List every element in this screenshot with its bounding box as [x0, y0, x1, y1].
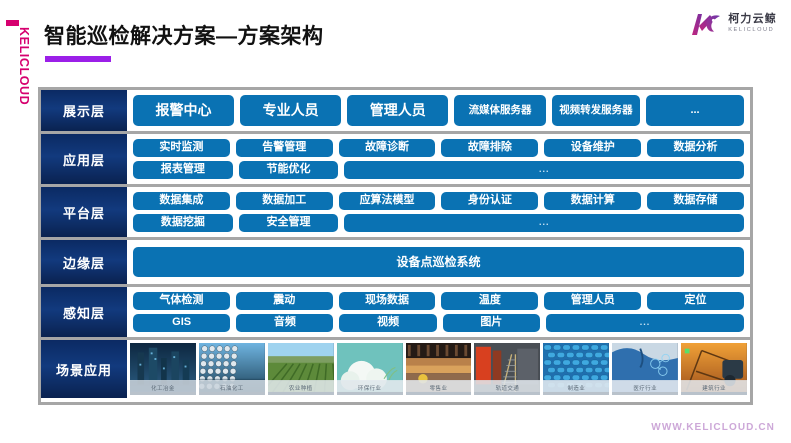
pill-row: 设备点巡检系统	[133, 247, 744, 277]
scene-application-row: 场景应用 化工冶金 石油化工	[41, 340, 750, 398]
brand-vertical-text: KELICLOUD	[17, 27, 31, 117]
scene-tile-rail[interactable]: 轨道交通	[474, 343, 540, 395]
footer-website-url: WWW.KELICLOUD.CN	[651, 422, 775, 433]
scene-tile-construction[interactable]: 建筑行业	[681, 343, 747, 395]
layer-row: 边缘层设备点巡检系统	[41, 240, 750, 287]
arch-item-more[interactable]: ...	[646, 95, 744, 126]
arch-item-数据计算[interactable]: 数据计算	[544, 192, 641, 210]
arch-item-温度[interactable]: 温度	[441, 292, 538, 310]
arch-item-数据挖掘[interactable]: 数据挖掘	[133, 214, 233, 232]
arch-item-数据加工[interactable]: 数据加工	[236, 192, 333, 210]
title-underline-accent	[45, 56, 111, 62]
arch-item-报警中心[interactable]: 报警中心	[133, 95, 234, 126]
pill-row: 气体检测震动现场数据温度管理人员定位	[133, 292, 744, 310]
pill-row: GIS音频视频图片...	[133, 314, 744, 332]
pill-row: 报警中心专业人员管理人员流媒体服务器视频转发服务器...	[133, 95, 744, 126]
page-title: 智能巡检解决方案—方案架构	[44, 20, 324, 50]
pill-row: 数据集成数据加工应算法模型身份认证数据计算数据存储	[133, 192, 744, 210]
layer-body: 报警中心专业人员管理人员流媒体服务器视频转发服务器...	[127, 90, 750, 131]
layer-row: 感知层气体检测震动现场数据温度管理人员定位GIS音频视频图片...	[41, 287, 750, 340]
layer-body: 数据集成数据加工应算法模型身份认证数据计算数据存储数据挖掘安全管理...	[127, 187, 750, 237]
pill-row: 数据挖掘安全管理...	[133, 214, 744, 232]
keli-whale-logo-icon	[689, 10, 723, 38]
arch-item-管理人员[interactable]: 管理人员	[544, 292, 641, 310]
arch-item-告警管理[interactable]: 告警管理	[236, 139, 333, 157]
scene-tile-medical[interactable]: 医疗行业	[612, 343, 678, 395]
scene-tile-pipes[interactable]: 石油化工	[199, 343, 265, 395]
scene-caption: 化工冶金	[130, 380, 196, 395]
pill-row: 实时监测告警管理故障诊断故障排除设备维护数据分析	[133, 139, 744, 157]
arch-item-节能优化[interactable]: 节能优化	[239, 161, 339, 179]
logo-text-block: 柯力云鲸 KELICLOUD	[728, 14, 777, 33]
arch-item-报表管理[interactable]: 报表管理	[133, 161, 233, 179]
scene-tile-retail[interactable]: 零售业	[406, 343, 472, 395]
layer-row: 展示层报警中心专业人员管理人员流媒体服务器视频转发服务器...	[41, 90, 750, 134]
slide-root: KELICLOUD 智能巡检解决方案—方案架构 柯力云鲸 KELICL	[0, 0, 791, 443]
scene-tiles-container: 化工冶金 石油化工 农业种植	[127, 340, 750, 398]
arch-item-专业人员[interactable]: 专业人员	[240, 95, 341, 126]
arch-item-数据集成[interactable]: 数据集成	[133, 192, 230, 210]
scene-caption: 环保行业	[337, 380, 403, 395]
arch-item-定位[interactable]: 定位	[647, 292, 744, 310]
scene-caption: 轨道交通	[474, 380, 540, 395]
arch-item-音频[interactable]: 音频	[236, 314, 333, 332]
arch-item-视频转发服务器[interactable]: 视频转发服务器	[552, 95, 640, 126]
arch-item-气体检测[interactable]: 气体检测	[133, 292, 230, 310]
arch-item-more[interactable]: ...	[546, 314, 744, 332]
architecture-diagram: 展示层报警中心专业人员管理人员流媒体服务器视频转发服务器...应用层实时监测告警…	[38, 87, 753, 405]
scene-caption: 制造业	[543, 380, 609, 395]
arch-item-实时监测[interactable]: 实时监测	[133, 139, 230, 157]
scene-caption: 农业种植	[268, 380, 334, 395]
scene-caption: 石油化工	[199, 380, 265, 395]
arch-item-安全管理[interactable]: 安全管理	[239, 214, 339, 232]
layer-label-2: 平台层	[41, 187, 127, 237]
scene-caption: 建筑行业	[681, 380, 747, 395]
arch-item-more[interactable]: ...	[344, 214, 744, 232]
arch-item-身份认证[interactable]: 身份认证	[441, 192, 538, 210]
layer-label-4: 感知层	[41, 287, 127, 337]
logo-english-name: KELICLOUD	[728, 28, 777, 34]
layer-label-3: 边缘层	[41, 240, 127, 284]
pill-row: 报表管理节能优化...	[133, 161, 744, 179]
arch-item-流媒体服务器[interactable]: 流媒体服务器	[454, 95, 545, 126]
scene-caption: 零售业	[406, 380, 472, 395]
arch-item-故障排除[interactable]: 故障排除	[441, 139, 538, 157]
layer-row: 应用层实时监测告警管理故障诊断故障排除设备维护数据分析报表管理节能优化...	[41, 134, 750, 187]
arch-item-数据存储[interactable]: 数据存储	[647, 192, 744, 210]
layer-label-1: 应用层	[41, 134, 127, 184]
arch-item-设备点巡检系统[interactable]: 设备点巡检系统	[133, 247, 744, 277]
arch-item-管理人员[interactable]: 管理人员	[347, 95, 448, 126]
layer-label-0: 展示层	[41, 90, 127, 131]
arch-item-GIS[interactable]: GIS	[133, 314, 230, 332]
scene-tile-farm[interactable]: 农业种植	[268, 343, 334, 395]
arch-item-设备维护[interactable]: 设备维护	[544, 139, 641, 157]
arch-item-故障诊断[interactable]: 故障诊断	[339, 139, 436, 157]
layer-body: 设备点巡检系统	[127, 240, 750, 284]
scene-tile-parts[interactable]: 制造业	[543, 343, 609, 395]
company-logo: 柯力云鲸 KELICLOUD	[689, 10, 777, 38]
layer-body: 气体检测震动现场数据温度管理人员定位GIS音频视频图片...	[127, 287, 750, 337]
scene-tile-eco[interactable]: 环保行业	[337, 343, 403, 395]
brand-accent-bar	[6, 20, 19, 26]
layer-row: 平台层数据集成数据加工应算法模型身份认证数据计算数据存储数据挖掘安全管理...	[41, 187, 750, 240]
arch-item-震动[interactable]: 震动	[236, 292, 333, 310]
arch-item-more[interactable]: ...	[344, 161, 744, 179]
arch-item-图片[interactable]: 图片	[443, 314, 540, 332]
layer-body: 实时监测告警管理故障诊断故障排除设备维护数据分析报表管理节能优化...	[127, 134, 750, 184]
arch-item-应算法模型[interactable]: 应算法模型	[339, 192, 436, 210]
arch-item-视频[interactable]: 视频	[339, 314, 436, 332]
brand-strip: KELICLOUD	[0, 0, 22, 443]
logo-chinese-name: 柯力云鲸	[728, 14, 777, 25]
scene-tile-city-night[interactable]: 化工冶金	[130, 343, 196, 395]
arch-item-数据分析[interactable]: 数据分析	[647, 139, 744, 157]
scene-caption: 医疗行业	[612, 380, 678, 395]
layer-label-scene: 场景应用	[41, 340, 127, 398]
arch-item-现场数据[interactable]: 现场数据	[339, 292, 436, 310]
